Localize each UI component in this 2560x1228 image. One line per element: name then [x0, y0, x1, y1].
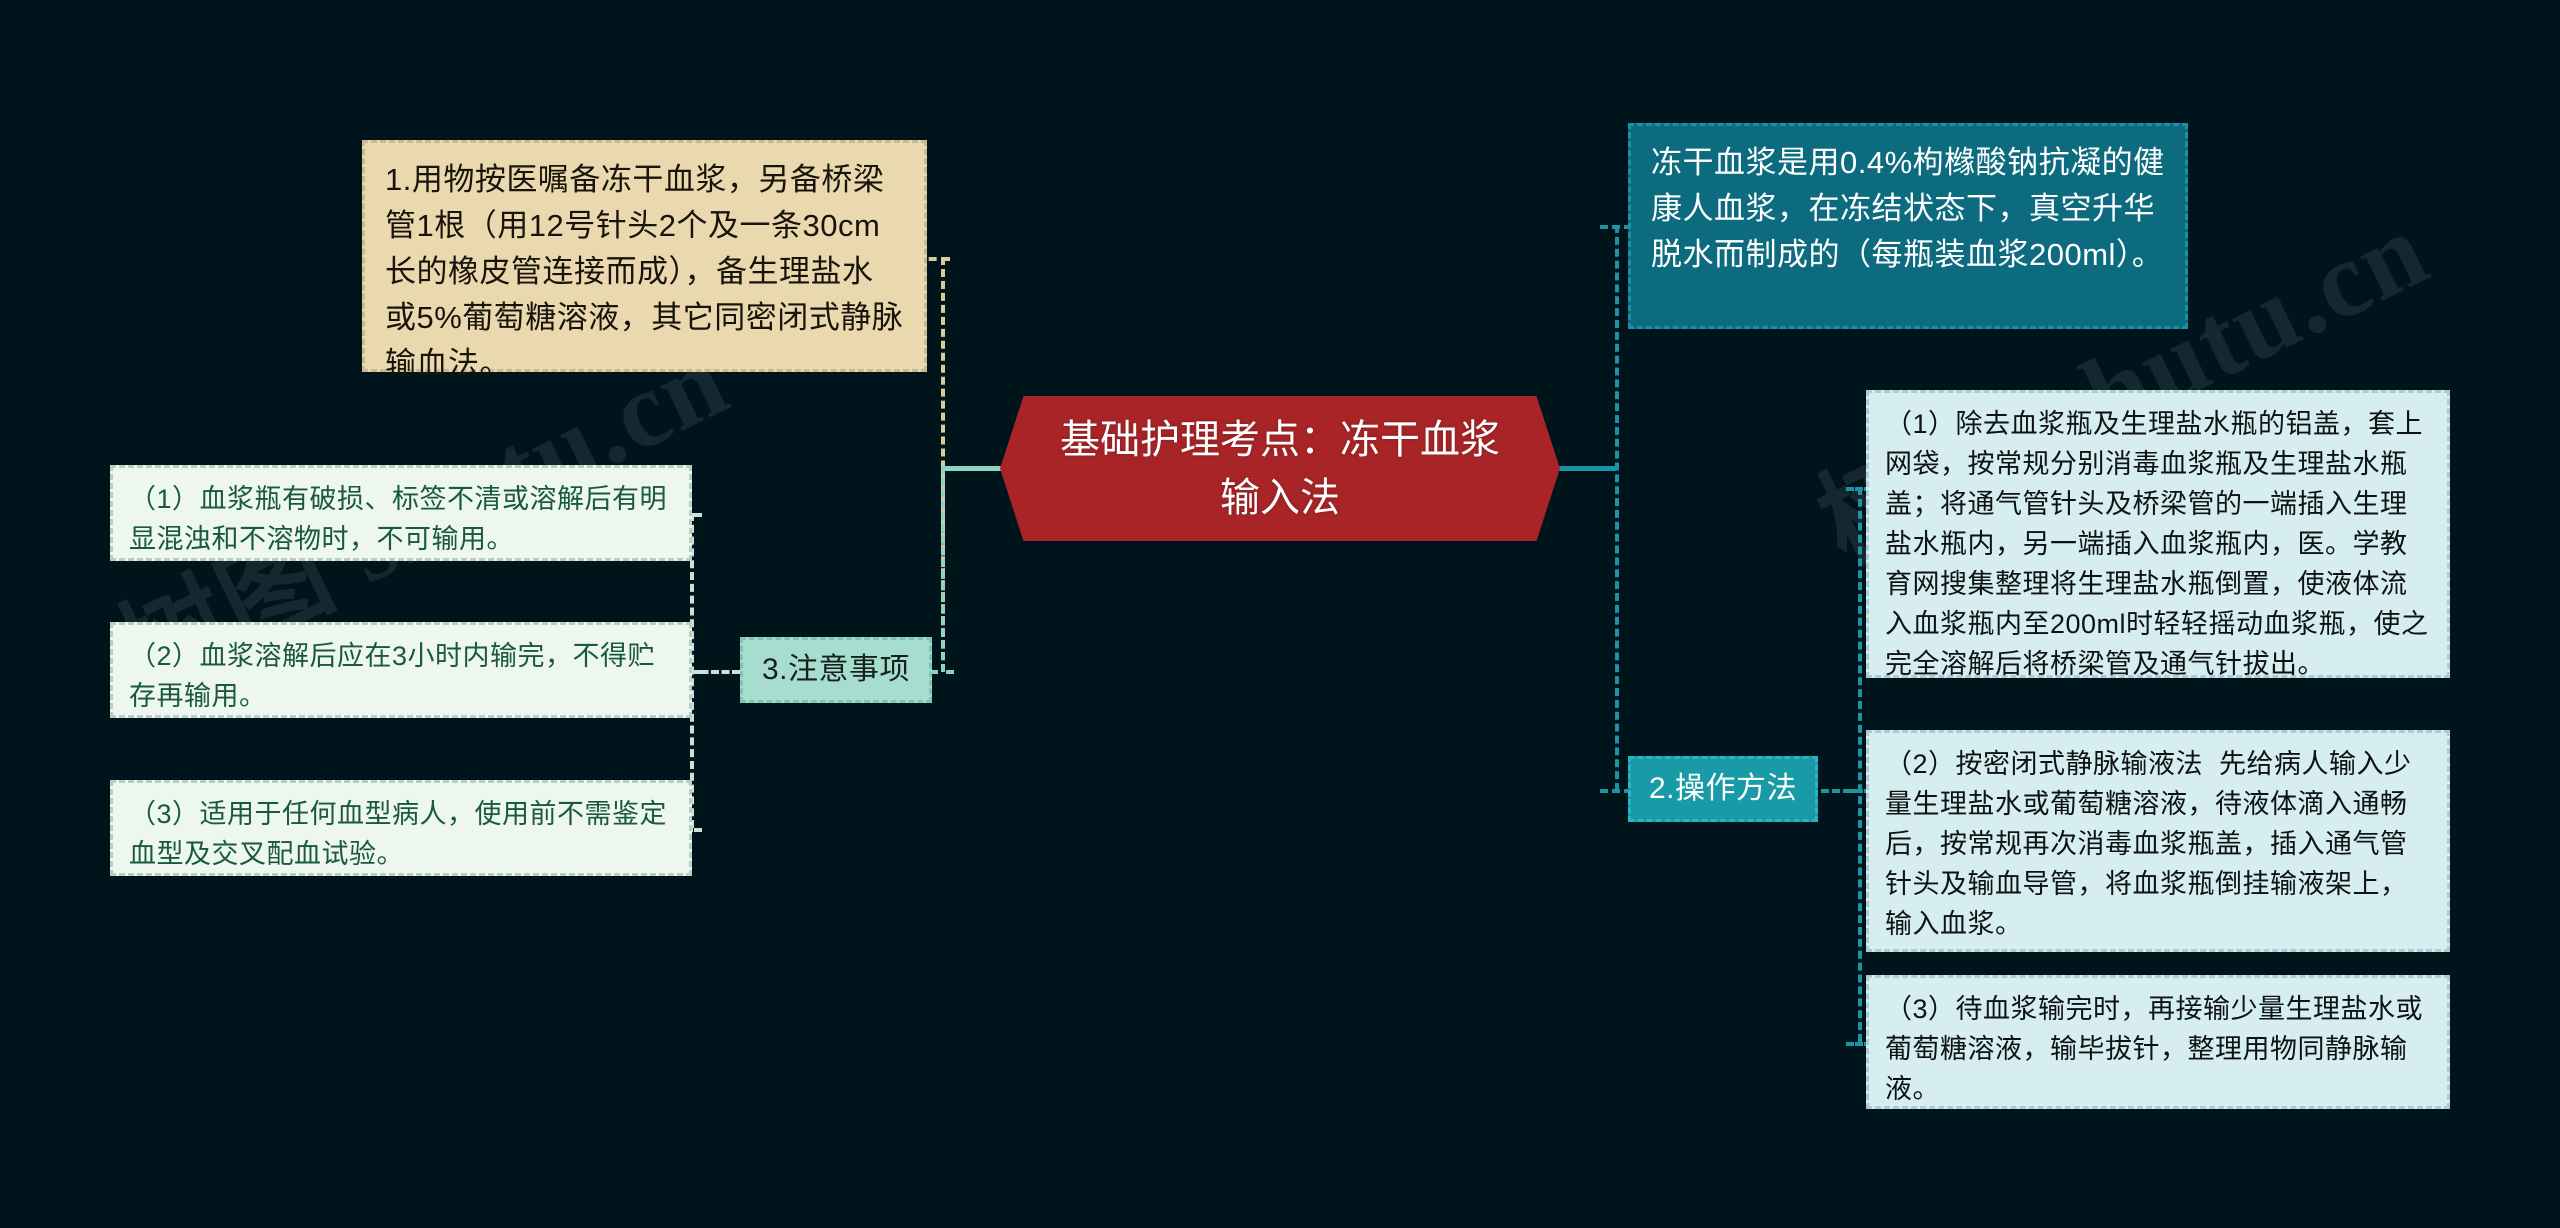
- connector-method-subspine: [1858, 487, 1862, 1042]
- method-item-1-text: （1）除去血浆瓶及生理盐水瓶的铝盖，套上网袋，按常规分别消毒血浆瓶及生理盐水瓶盖…: [1885, 405, 2431, 685]
- center-node[interactable]: 基础护理考点：冻干血浆 输入法: [1000, 396, 1560, 541]
- connector-center-right-stub: [1555, 466, 1617, 471]
- method-item-2-text: （2）按密闭式静脉输液法 先给病人输入少量生理盐水或葡萄糖溶液，待液体滴入通畅后…: [1885, 745, 2431, 945]
- notes-item-3[interactable]: （3）适用于任何血型病人，使用前不需鉴定血型及交叉配血试验。: [110, 780, 692, 876]
- notes-item-1[interactable]: （1）血浆瓶有破损、标签不清或溶解后有明显混浊和不溶物时，不可输用。: [110, 465, 692, 561]
- preparation-node[interactable]: 1.用物按医嘱备冻干血浆，另备桥梁管1根（用12号针头2个及一条30cm长的橡皮…: [362, 140, 927, 372]
- connector-left-spine-lower: [941, 466, 945, 672]
- connector-notes-label-out: [690, 670, 740, 674]
- connector-left-spine: [941, 257, 945, 672]
- definition-text: 冻干血浆是用0.4%枸橼酸钠抗凝的健康人血浆，在冻结状态下，真空升华脱水而制成的…: [1651, 140, 2165, 278]
- connector-right-spine: [1615, 225, 1619, 791]
- notes-label-text: 3.注意事项: [762, 648, 910, 692]
- notes-item-2[interactable]: （2）血浆溶解后应在3小时内输完，不得贮存再输用。: [110, 622, 692, 718]
- connector-center-left-stub: [943, 466, 1005, 471]
- method-item-2[interactable]: （2）按密闭式静脉输液法 先给病人输入少量生理盐水或葡萄糖溶液，待液体滴入通畅后…: [1866, 730, 2450, 952]
- method-item-1[interactable]: （1）除去血浆瓶及生理盐水瓶的铝盖，套上网袋，按常规分别消毒血浆瓶及生理盐水瓶盖…: [1866, 390, 2450, 678]
- method-label-text: 2.操作方法: [1649, 767, 1797, 811]
- notes-item-1-text: （1）血浆瓶有破损、标签不清或溶解后有明显混浊和不溶物时，不可输用。: [129, 480, 673, 560]
- notes-item-2-text: （2）血浆溶解后应在3小时内输完，不得贮存再输用。: [129, 637, 673, 717]
- notes-label-node[interactable]: 3.注意事项: [740, 637, 932, 703]
- preparation-text: 1.用物按医嘱备冻干血浆，另备桥梁管1根（用12号针头2个及一条30cm长的橡皮…: [385, 157, 904, 386]
- mindmap-canvas: 树图 shutu.cn 树图 shutu.cn 基础护理考点：冻干血浆 输入: [0, 0, 2560, 1228]
- method-item-3[interactable]: （3）待血浆输完时，再接输少量生理盐水或葡萄糖溶液，输毕拔针，整理用物同静脉输液…: [1866, 975, 2450, 1109]
- connector-to-notes-label: [930, 670, 954, 674]
- center-node-title: 基础护理考点：冻干血浆 输入法: [1060, 411, 1500, 527]
- definition-node[interactable]: 冻干血浆是用0.4%枸橼酸钠抗凝的健康人血浆，在冻结状态下，真空升华脱水而制成的…: [1628, 123, 2188, 329]
- method-item-3-text: （3）待血浆输完时，再接输少量生理盐水或葡萄糖溶液，输毕拔针，整理用物同静脉输液…: [1885, 990, 2431, 1110]
- method-label-node[interactable]: 2.操作方法: [1628, 756, 1818, 822]
- notes-item-3-text: （3）适用于任何血型病人，使用前不需鉴定血型及交叉配血试验。: [129, 795, 673, 875]
